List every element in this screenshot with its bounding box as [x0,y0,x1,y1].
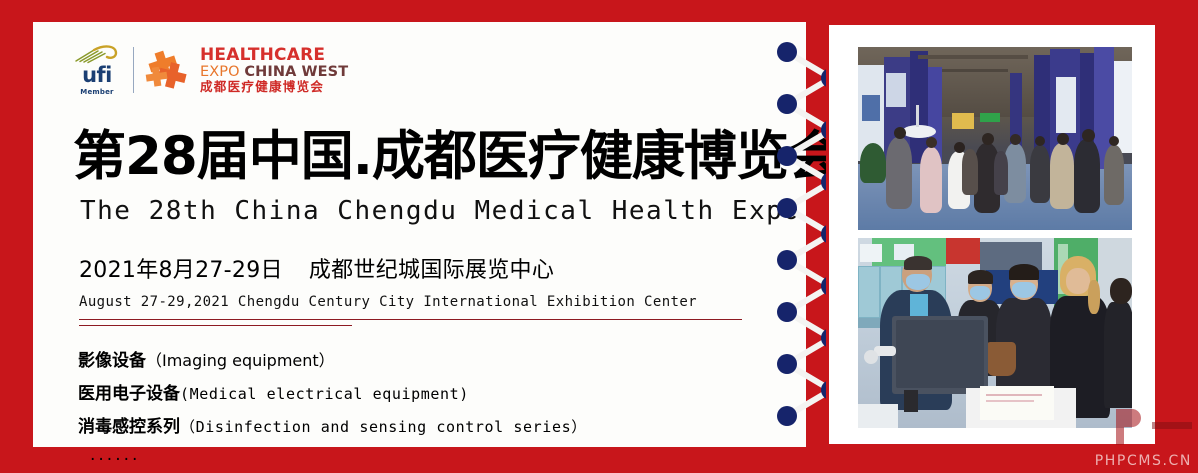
watermark-bar [1152,422,1192,429]
healthcare-line2: EXPO CHINA WEST [200,65,348,80]
poster-title-en: The 28th China Chengdu Medical Health Ex… [80,198,800,224]
ufi-member-label: Member [80,89,113,96]
poster-canvas: ufi Member HEALTHCARE EXPO CHINA WEST 成都… [0,0,1198,473]
event-date-venue-cn: 2021年8月27-29日成都世纪城国际展览中心 [79,252,554,284]
divider-rule-long [79,319,742,320]
healthcare-expo-word: EXPO [200,64,240,80]
left-content-card: ufi Member HEALTHCARE EXPO CHINA WEST 成都… [33,22,806,447]
list-item: 医用电子设备(Medical electrical equipment) [78,379,587,404]
healthcare-expo-wordmark: HEALTHCARE EXPO CHINA WEST 成都医疗健康博览会 [200,47,348,94]
exhibition-hall-aisle-photo [858,47,1132,230]
healthcare-chinawest-word: CHINA WEST [244,64,348,80]
logo-divider [133,47,134,93]
list-item: 影像设备（Imaging equipment） [78,346,587,371]
logo-row: ufi Member HEALTHCARE EXPO CHINA WEST 成都… [69,34,348,106]
right-photo-panel [826,22,1158,447]
category-en: （Disinfection and sensing control series… [180,418,587,436]
category-list: 影像设备（Imaging equipment） 医用电子设备(Medical e… [78,346,587,465]
category-zh: 医用电子设备 [78,384,180,404]
ufi-wordmark: ufi [82,65,112,86]
category-zh: 影像设备 [78,351,146,371]
event-venue-cn: 成都世纪城国际展览中心 [309,258,554,283]
poster-title-cn: 第28届中国.成都医疗健康博览会 [73,130,840,183]
booth-visitors-photo [858,238,1132,428]
watermark-logo-icon [1112,405,1146,447]
event-date-cn: 2021年8月27-29日 [79,258,283,283]
divider-rule-short [79,325,352,326]
category-ellipsis: ...... [90,445,587,465]
healthcare-cross-mark-icon [143,45,193,95]
healthcare-line1: HEALTHCARE [200,47,348,64]
ufi-swoosh-icon [74,44,120,64]
ufi-member-logo: ufi Member [69,44,125,96]
watermark: PHPCMS.CN [1095,453,1192,469]
event-date-venue-en: August 27-29,2021 Chengdu Century City I… [79,294,697,310]
healthcare-line3-cn: 成都医疗健康博览会 [200,81,348,94]
watermark-text: PHPCMS.CN [1095,453,1192,469]
list-item: 消毒感控系列（Disinfection and sensing control … [78,412,587,437]
category-en: （Imaging equipment） [146,351,335,370]
category-en: (Medical electrical equipment) [180,385,469,403]
category-zh: 消毒感控系列 [78,417,180,437]
